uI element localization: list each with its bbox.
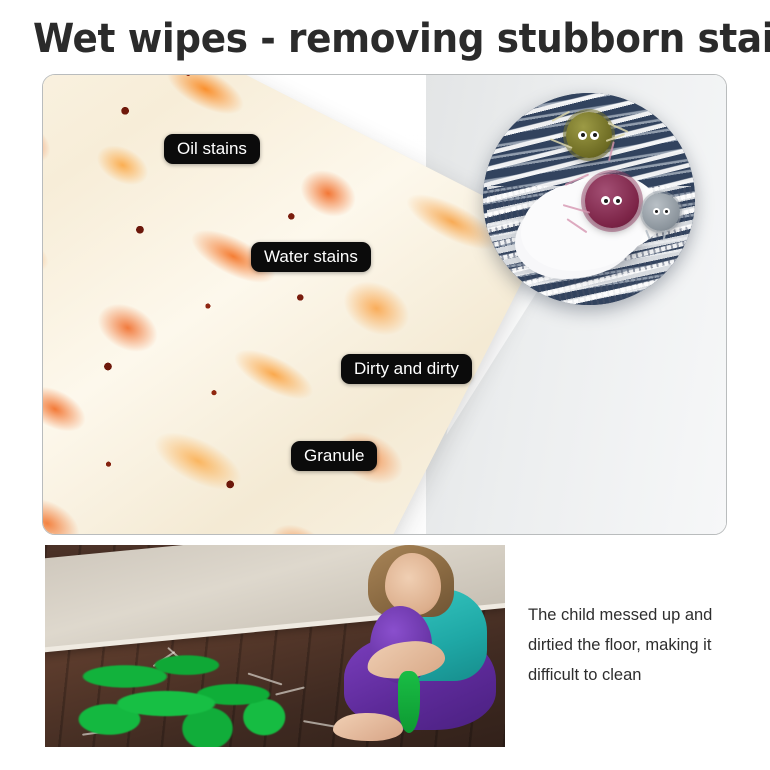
germ-eye xyxy=(653,208,660,215)
caption-line-3: difficult to clean xyxy=(528,660,760,690)
green-paint-scribbles xyxy=(63,638,321,747)
germ-eye xyxy=(613,196,622,205)
germ-eye xyxy=(578,131,587,140)
child-figure xyxy=(284,545,496,747)
child-foot xyxy=(333,713,403,741)
product-detail-page: Wet wipes - removing stubborn stains xyxy=(0,0,770,770)
caption-line-2: dirtied the floor, making it xyxy=(528,630,760,660)
germ-eye xyxy=(663,208,670,215)
caption-line-1: The child messed up and xyxy=(528,600,760,630)
bottom-caption: The child messed up and dirtied the floo… xyxy=(528,600,760,690)
magnified-circle-inset xyxy=(483,93,695,305)
germ-eye xyxy=(590,131,599,140)
label-water-stains: Water stains xyxy=(251,242,371,272)
child-floor-photo xyxy=(45,545,505,747)
page-title: Wet wipes - removing stubborn stains xyxy=(33,14,702,64)
label-granule: Granule xyxy=(291,441,377,471)
germ-eye xyxy=(601,196,610,205)
germ-magenta-icon xyxy=(585,174,639,228)
hero-image-card: Oil stains Water stains Dirty and dirty … xyxy=(42,74,727,535)
label-oil-stains: Oil stains xyxy=(164,134,260,164)
germ-gray-icon xyxy=(642,193,680,231)
germ-olive-icon xyxy=(566,112,612,158)
label-dirty-and-dirty: Dirty and dirty xyxy=(341,354,472,384)
